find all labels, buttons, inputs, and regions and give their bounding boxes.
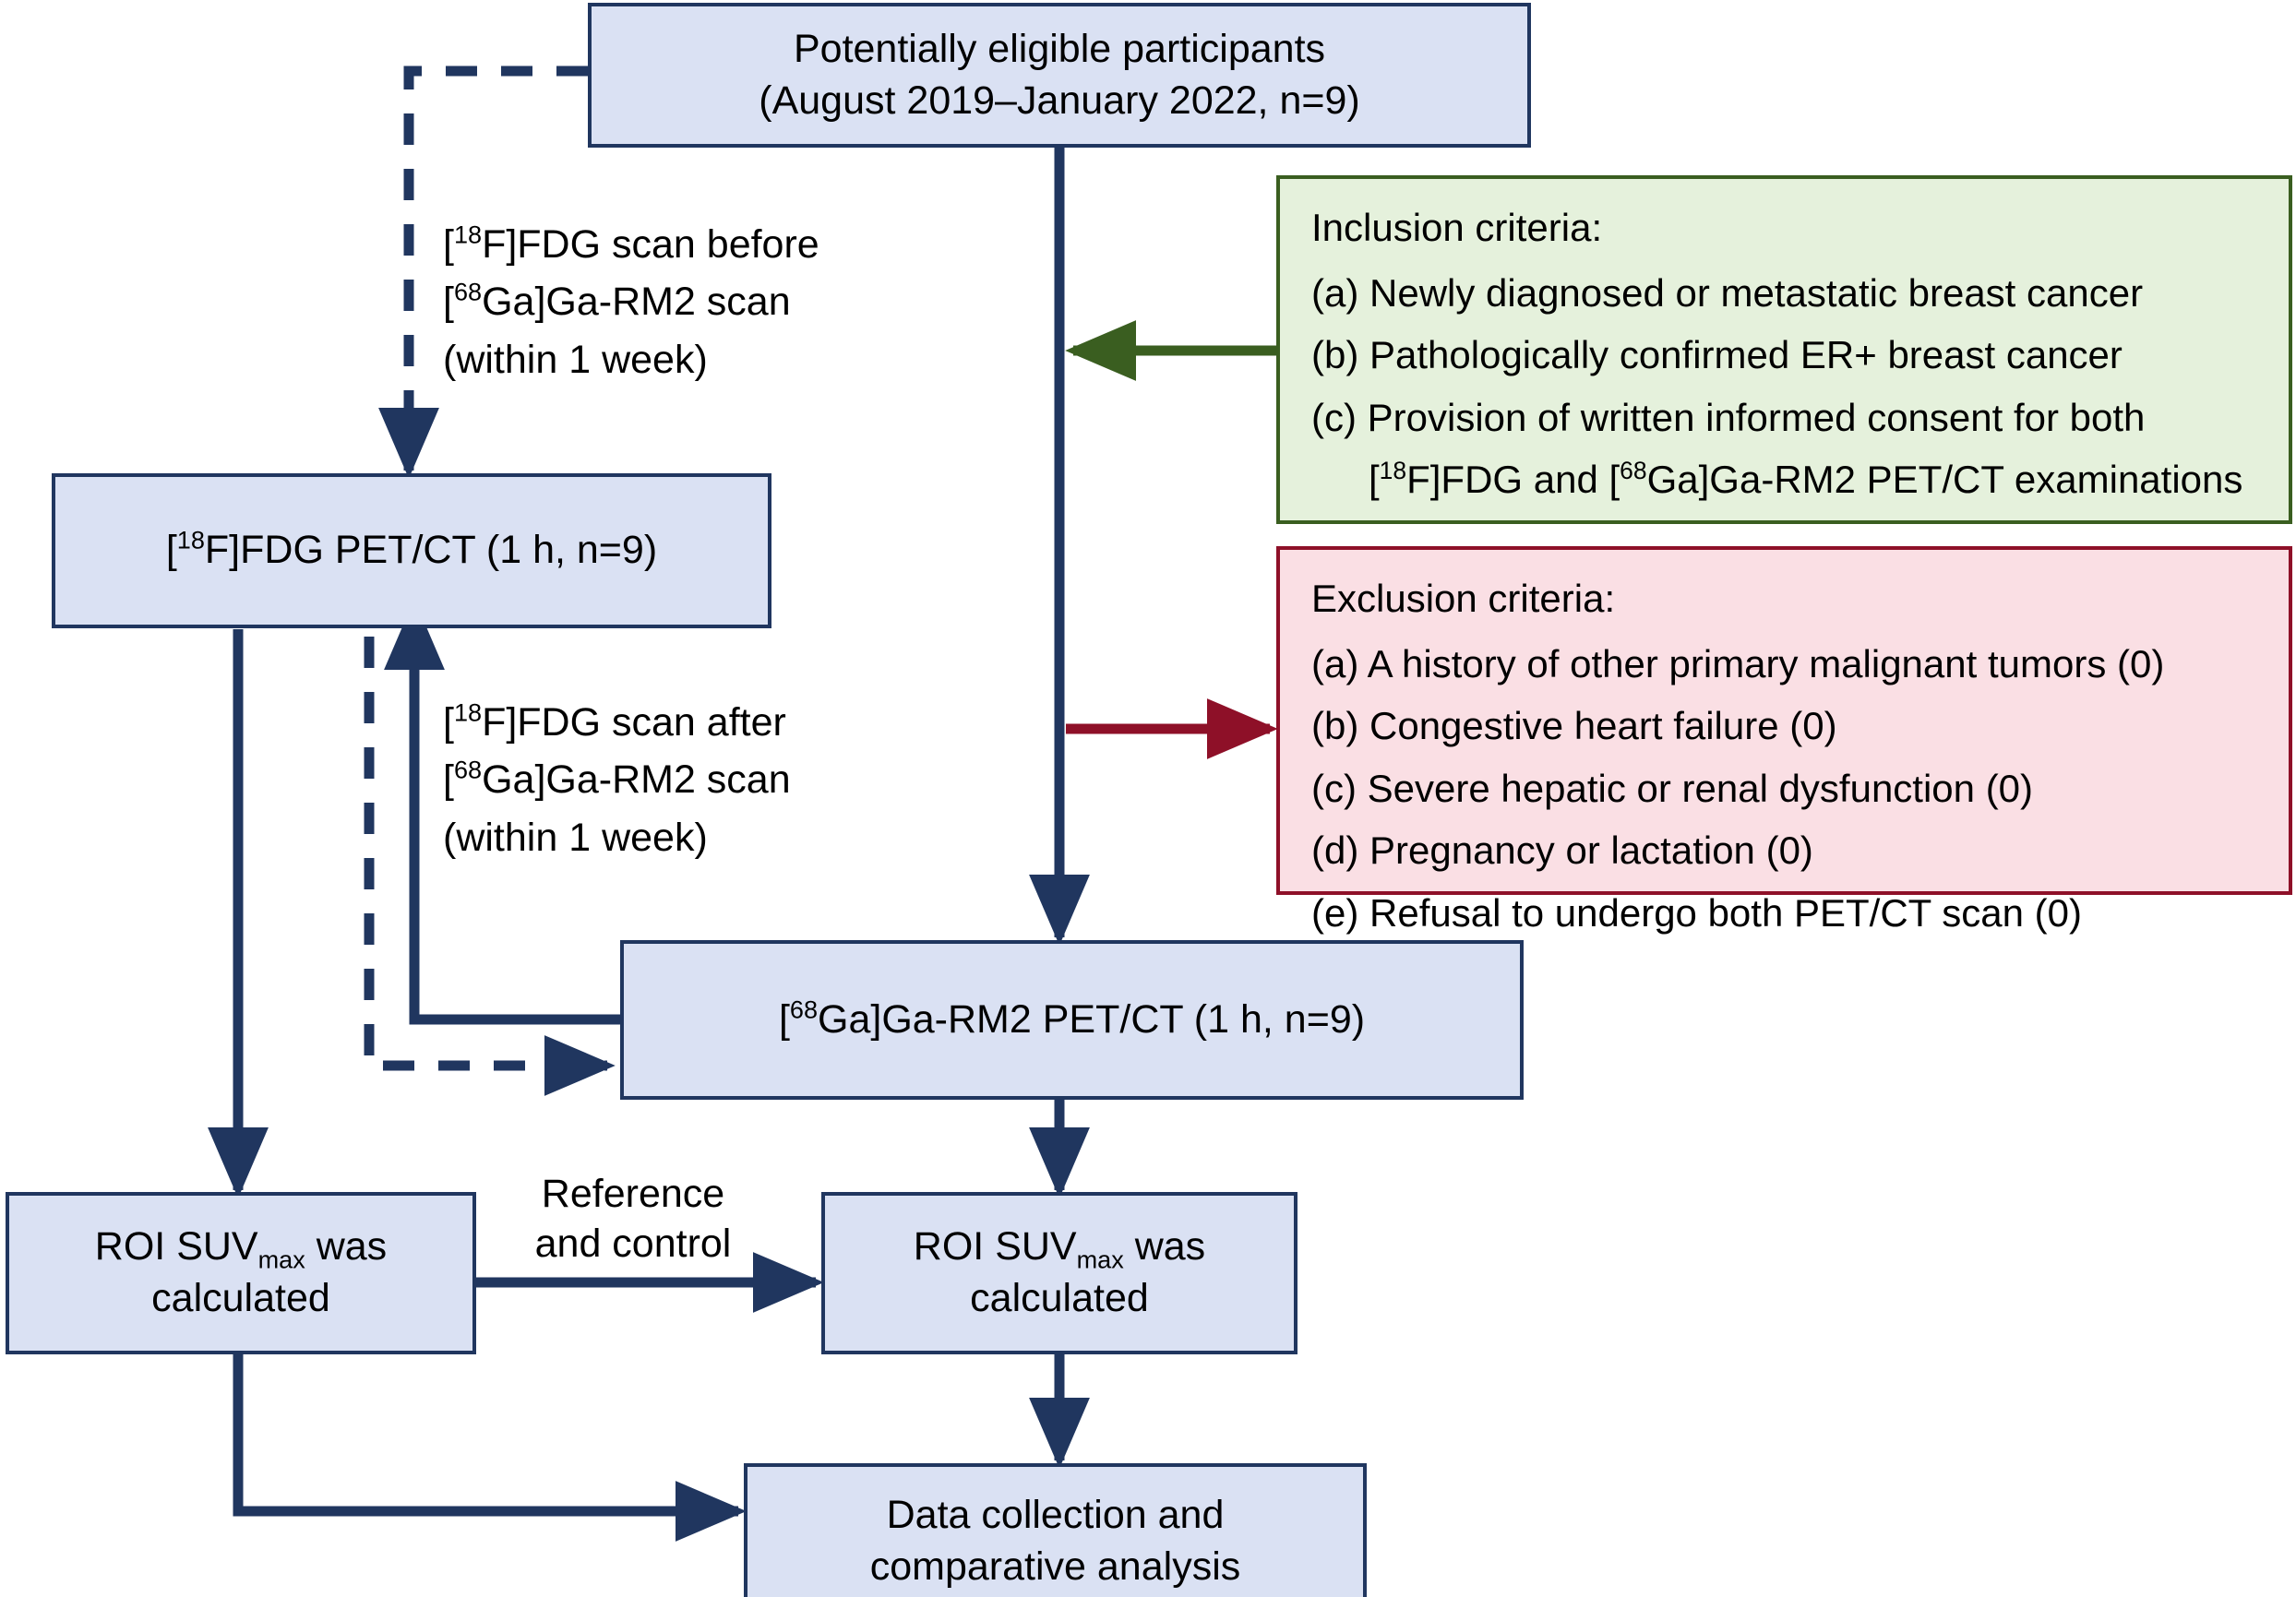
exclusion-item-d: (d) Pregnancy or lactation (0) xyxy=(1311,826,1813,876)
scan-before-line-3: (within 1 week) xyxy=(443,331,819,388)
scan-before-line-2: [68Ga]Ga-RM2 scan xyxy=(443,273,819,330)
node-roi-suvmax-left: ROI SUVmax was calculated xyxy=(6,1192,476,1354)
exclusion-item-c: (c) Severe hepatic or renal dysfunction … xyxy=(1311,764,2033,815)
node-fdg-pet-ct: [18F]FDG PET/CT (1 h, n=9) xyxy=(52,473,771,628)
exclusion-item-e: (e) Refusal to undergo both PET/CT scan … xyxy=(1311,888,2082,939)
fdg-pet-ct-label: [18F]FDG PET/CT (1 h, n=9) xyxy=(166,525,657,577)
scan-after-line-3: (within 1 week) xyxy=(443,809,791,866)
node-data-collection: Data collection and comparative analysis xyxy=(744,1463,1367,1597)
data-collection-line-2: comparative analysis xyxy=(870,1542,1241,1593)
roi-right-line-2: calculated xyxy=(970,1273,1149,1325)
reference-control-line-2: and control xyxy=(522,1220,744,1269)
scan-after-line-2: [68Ga]Ga-RM2 scan xyxy=(443,751,791,808)
node-potentially-eligible-participants: Potentially eligible participants (Augus… xyxy=(588,3,1531,148)
roi-left-line-1: ROI SUVmax was xyxy=(95,1222,387,1273)
roi-left-line-2: calculated xyxy=(151,1273,330,1325)
scan-before-line-1: [18F]FDG scan before xyxy=(443,216,819,273)
inclusion-item-c-continuation: [18F]FDG and [68Ga]Ga-RM2 PET/CT examina… xyxy=(1311,455,2242,506)
inclusion-item-b: (b) Pathologically confirmed ER+ breast … xyxy=(1311,330,2123,381)
data-collection-line-1: Data collection and xyxy=(887,1490,1225,1542)
inclusion-title: Inclusion criteria: xyxy=(1311,203,1602,254)
edge-label-fdg-scan-before: [18F]FDG scan before [68Ga]Ga-RM2 scan (… xyxy=(443,216,819,388)
node-ga-rm2-pet-ct: [68Ga]Ga-RM2 PET/CT (1 h, n=9) xyxy=(620,940,1524,1100)
node-inclusion-criteria: Inclusion criteria: (a) Newly diagnosed … xyxy=(1276,175,2292,524)
exclusion-item-b: (b) Congestive heart failure (0) xyxy=(1311,701,1837,752)
ga-rm2-pet-ct-label: [68Ga]Ga-RM2 PET/CT (1 h, n=9) xyxy=(779,995,1365,1046)
flowchart-canvas: Potentially eligible participants (Augus… xyxy=(0,0,2296,1597)
edge-label-reference-and-control: Reference and control xyxy=(522,1170,744,1269)
reference-control-line-1: Reference xyxy=(522,1170,744,1220)
roi-right-line-1: ROI SUVmax was xyxy=(914,1222,1205,1273)
inclusion-item-a: (a) Newly diagnosed or metastatic breast… xyxy=(1311,268,2143,319)
exclusion-item-a: (a) A history of other primary malignant… xyxy=(1311,639,2164,690)
inclusion-item-c: (c) Provision of written informed consen… xyxy=(1311,393,2145,444)
edge-roi-left-to-data xyxy=(238,1354,738,1511)
participants-line-2: (August 2019–January 2022, n=9) xyxy=(759,76,1359,127)
node-roi-suvmax-right: ROI SUVmax was calculated xyxy=(821,1192,1297,1354)
scan-after-line-1: [18F]FDG scan after xyxy=(443,694,791,751)
node-exclusion-criteria: Exclusion criteria: (a) A history of oth… xyxy=(1276,546,2292,895)
edge-label-fdg-scan-after: [18F]FDG scan after [68Ga]Ga-RM2 scan (w… xyxy=(443,694,791,866)
participants-line-1: Potentially eligible participants xyxy=(794,24,1325,76)
exclusion-title: Exclusion criteria: xyxy=(1311,574,1615,625)
